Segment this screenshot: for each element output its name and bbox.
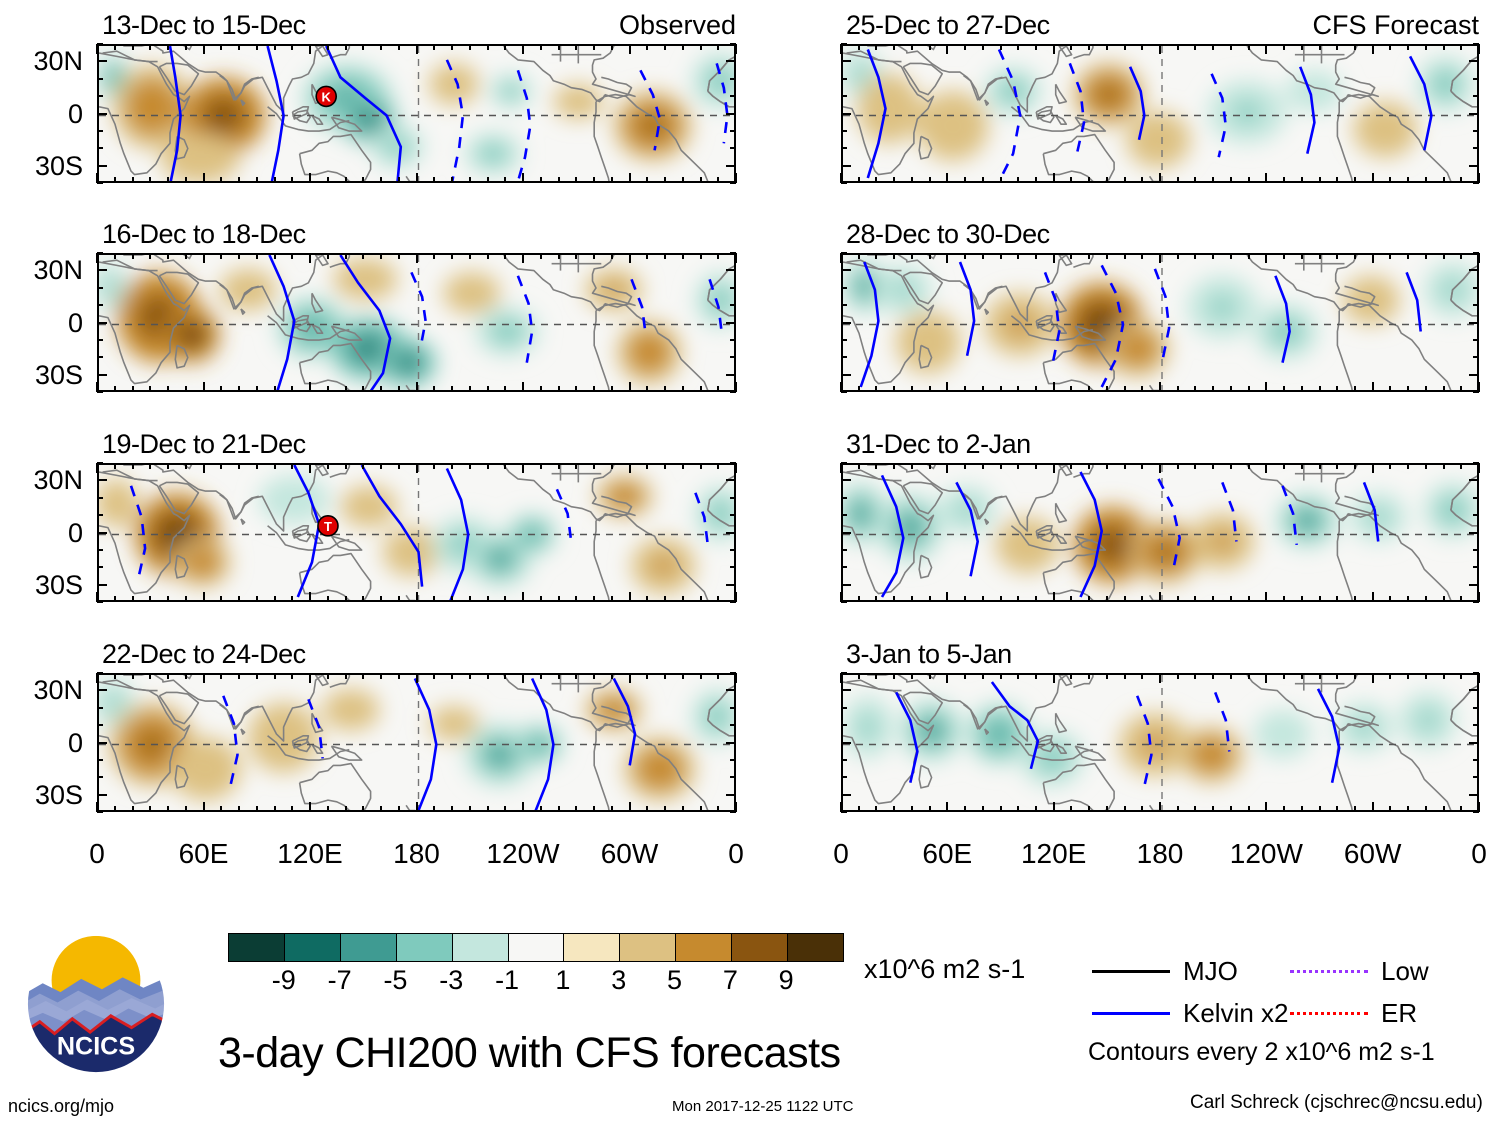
x-tick (982, 177, 984, 183)
x-tick (114, 386, 116, 392)
x-tick (646, 177, 648, 183)
x-tick (911, 596, 913, 602)
colorbar-swatch-0 (229, 934, 285, 961)
y-tick (841, 566, 847, 568)
ncics-logo-text: NCICS (57, 1032, 135, 1060)
x-tick (1035, 596, 1037, 602)
x-tick (946, 592, 948, 602)
y-tick (730, 462, 736, 464)
x-tick (1283, 596, 1285, 602)
x-tick (1124, 806, 1126, 812)
x-tick (1460, 253, 1462, 259)
x-tick (1407, 463, 1409, 469)
y-tick (97, 601, 103, 603)
x-axis-label: 120E (250, 840, 370, 868)
x-tick (929, 177, 931, 183)
legend-entry-mjo: MJO (1092, 958, 1238, 984)
x-tick (1425, 673, 1427, 679)
x-tick (398, 463, 400, 469)
x-tick (629, 253, 631, 263)
y-tick (841, 60, 851, 62)
y-tick (1473, 514, 1479, 516)
x-tick (1265, 592, 1267, 602)
x-tick (1053, 253, 1055, 263)
x-tick (380, 596, 382, 602)
x-tick (1478, 673, 1480, 683)
y-tick (1473, 549, 1479, 551)
x-axis-label: 0 (1419, 840, 1510, 868)
x-tick (1372, 463, 1374, 473)
x-tick (185, 177, 187, 183)
x-tick (1088, 386, 1090, 392)
x-tick (1372, 673, 1374, 683)
x-tick (1389, 673, 1391, 679)
x-tick (1407, 386, 1409, 392)
y-tick (1469, 742, 1479, 744)
x-tick (469, 177, 471, 183)
x-tick (1141, 463, 1143, 469)
x-tick (1070, 177, 1072, 183)
x-tick (504, 44, 506, 50)
legend-entry-low: Low (1290, 958, 1429, 984)
legend-label: Kelvin x2 (1183, 1000, 1289, 1026)
x-axis-label: 0 (37, 840, 157, 868)
y-tick (97, 269, 107, 271)
x-tick (893, 806, 895, 812)
map-panel-p6 (841, 253, 1479, 392)
x-tick (1319, 596, 1321, 602)
x-tick (540, 806, 542, 812)
y-tick (1473, 497, 1479, 499)
x-tick (185, 673, 187, 679)
x-tick (185, 44, 187, 50)
x-tick (380, 44, 382, 50)
x-tick (1035, 177, 1037, 183)
x-tick (1088, 253, 1090, 259)
x-tick (1230, 806, 1232, 812)
x-tick (946, 382, 948, 392)
x-tick (291, 253, 293, 259)
y-tick (97, 78, 103, 80)
map-field-p2 (99, 255, 736, 392)
x-tick (469, 596, 471, 602)
y-tick (726, 165, 736, 167)
y-tick (97, 322, 107, 324)
legend-line-swatch (1092, 970, 1170, 973)
y-tick (97, 374, 107, 376)
x-tick (1017, 463, 1019, 469)
y-tick (730, 356, 736, 358)
x-tick (1053, 382, 1055, 392)
x-tick (1177, 463, 1179, 469)
x-tick (1070, 253, 1072, 259)
y-tick (1473, 95, 1479, 97)
x-tick (1053, 592, 1055, 602)
y-tick (1469, 584, 1479, 586)
x-tick (1106, 253, 1108, 259)
x-tick (946, 802, 948, 812)
x-tick (611, 596, 613, 602)
x-tick (114, 253, 116, 259)
x-tick (149, 463, 151, 469)
x-tick (1000, 673, 1002, 679)
x-tick (274, 253, 276, 259)
x-tick (416, 382, 418, 392)
x-tick (1053, 463, 1055, 473)
x-tick (1212, 806, 1214, 812)
x-tick (1460, 806, 1462, 812)
x-tick (256, 463, 258, 469)
y-axis-label: 30S (0, 153, 83, 180)
x-tick (682, 596, 684, 602)
x-tick (149, 386, 151, 392)
y-tick (726, 322, 736, 324)
x-tick (1407, 253, 1409, 259)
y-tick (97, 811, 103, 813)
x-tick (1088, 596, 1090, 602)
y-tick (730, 724, 736, 726)
x-tick (132, 596, 134, 602)
x-tick (274, 177, 276, 183)
x-tick (1336, 673, 1338, 679)
x-tick (858, 596, 860, 602)
x-tick (540, 177, 542, 183)
x-tick (345, 806, 347, 812)
x-tick (203, 253, 205, 263)
x-tick (1478, 44, 1480, 54)
x-tick (875, 386, 877, 392)
x-tick (1265, 802, 1267, 812)
x-tick (1070, 386, 1072, 392)
x-tick (911, 44, 913, 50)
x-tick (575, 177, 577, 183)
y-tick (841, 462, 847, 464)
x-tick (629, 44, 631, 54)
x-tick (291, 673, 293, 679)
x-tick (575, 386, 577, 392)
x-tick (1088, 177, 1090, 183)
x-tick (274, 463, 276, 469)
colorbar-swatch-4 (453, 934, 509, 961)
y-tick (841, 724, 847, 726)
x-tick (1159, 253, 1161, 263)
x-tick (1248, 673, 1250, 679)
y-tick (730, 287, 736, 289)
x-axis-label: 60E (144, 840, 264, 868)
y-tick (1473, 462, 1479, 464)
x-tick (1460, 463, 1462, 469)
x-tick (1141, 177, 1143, 183)
x-tick (291, 596, 293, 602)
x-tick (1425, 386, 1427, 392)
x-tick (345, 673, 347, 679)
x-tick (1265, 463, 1267, 473)
y-tick (841, 601, 847, 603)
x-tick (682, 253, 684, 259)
colorbar-swatch-6 (564, 934, 620, 961)
y-tick (97, 391, 103, 393)
x-tick (416, 173, 418, 183)
x-tick (167, 386, 169, 392)
x-tick (558, 806, 560, 812)
map-panel-p8 (841, 673, 1479, 812)
y-tick (841, 269, 851, 271)
y-tick (841, 497, 847, 499)
x-tick (522, 44, 524, 54)
x-tick (1088, 463, 1090, 469)
map-panel-p4 (97, 673, 736, 812)
x-tick (1035, 386, 1037, 392)
x-tick (593, 596, 595, 602)
x-tick (858, 177, 860, 183)
y-tick (726, 374, 736, 376)
x-tick (1389, 386, 1391, 392)
x-tick (982, 673, 984, 679)
x-tick (1000, 806, 1002, 812)
y-tick (841, 532, 851, 534)
legend-line-swatch (1290, 1012, 1368, 1015)
x-tick (1017, 673, 1019, 679)
x-tick (893, 253, 895, 259)
y-tick (1469, 269, 1479, 271)
panel-title-p1: 13-Dec to 15-Dec (102, 12, 306, 39)
x-tick (416, 802, 418, 812)
x-tick (1372, 253, 1374, 263)
x-tick (380, 253, 382, 259)
x-tick (167, 673, 169, 679)
x-tick (185, 806, 187, 812)
x-tick (1230, 463, 1232, 469)
x-tick (700, 177, 702, 183)
x-tick (1443, 806, 1445, 812)
x-tick (433, 463, 435, 469)
x-tick (982, 596, 984, 602)
x-tick (1425, 596, 1427, 602)
x-tick (1283, 463, 1285, 469)
x-tick (327, 253, 329, 259)
y-tick (730, 147, 736, 149)
x-tick (1425, 463, 1427, 469)
y-tick (841, 182, 847, 184)
x-tick (185, 253, 187, 259)
x-tick (149, 177, 151, 183)
x-tick (185, 596, 187, 602)
x-tick (1301, 463, 1303, 469)
x-tick (717, 386, 719, 392)
x-tick (274, 673, 276, 679)
x-tick (1319, 253, 1321, 259)
x-tick (416, 673, 418, 683)
x-tick (664, 177, 666, 183)
x-tick (1443, 673, 1445, 679)
x-tick (664, 463, 666, 469)
y-tick (841, 689, 851, 691)
x-tick (1106, 177, 1108, 183)
x-tick (398, 386, 400, 392)
colorbar-swatch-5 (509, 934, 565, 961)
x-tick (238, 386, 240, 392)
x-tick (1106, 806, 1108, 812)
x-tick (1053, 173, 1055, 183)
x-tick (362, 673, 364, 679)
y-tick (730, 95, 736, 97)
colorbar-swatch-8 (676, 934, 732, 961)
y-tick (1473, 356, 1479, 358)
y-tick (730, 776, 736, 778)
x-tick (1177, 596, 1179, 602)
x-tick (717, 253, 719, 259)
x-tick (96, 44, 98, 54)
x-tick (1177, 177, 1179, 183)
x-tick (735, 253, 737, 263)
x-tick (291, 386, 293, 392)
x-tick (149, 806, 151, 812)
x-tick (114, 177, 116, 183)
x-tick (629, 592, 631, 602)
x-tick (964, 463, 966, 469)
x-tick (593, 673, 595, 679)
y-tick (841, 776, 847, 778)
x-tick (256, 673, 258, 679)
x-tick (575, 596, 577, 602)
x-tick (1194, 673, 1196, 679)
x-tick (433, 177, 435, 183)
x-tick (149, 596, 151, 602)
x-tick (416, 592, 418, 602)
x-tick (700, 806, 702, 812)
x-tick (469, 386, 471, 392)
x-tick (646, 673, 648, 679)
x-axis-label: 180 (357, 840, 477, 868)
x-tick (451, 253, 453, 259)
y-axis-label: 0 (0, 730, 83, 757)
x-tick (1283, 673, 1285, 679)
x-tick (700, 386, 702, 392)
x-tick (929, 463, 931, 469)
x-tick (1017, 177, 1019, 183)
x-tick (1212, 463, 1214, 469)
x-tick (291, 806, 293, 812)
x-tick (132, 463, 134, 469)
ncics-logo-icon: NCICS (22, 930, 170, 1078)
x-tick (1106, 386, 1108, 392)
x-tick (1106, 463, 1108, 469)
x-tick (700, 463, 702, 469)
x-tick (309, 253, 311, 263)
y-tick (97, 356, 103, 358)
x-tick (256, 253, 258, 259)
colorbar-swatch-2 (341, 934, 397, 961)
x-tick (1319, 44, 1321, 50)
x-tick (1443, 463, 1445, 469)
x-tick (1265, 173, 1267, 183)
x-tick (362, 806, 364, 812)
colorbar-tick-label: 9 (746, 967, 826, 994)
x-tick (203, 802, 205, 812)
y-tick (730, 707, 736, 709)
y-tick (730, 78, 736, 80)
x-tick (558, 596, 560, 602)
x-tick (946, 253, 948, 263)
x-tick (1407, 177, 1409, 183)
x-tick (167, 253, 169, 259)
x-axis-label: 0 (781, 840, 901, 868)
x-tick (875, 806, 877, 812)
x-tick (203, 44, 205, 54)
x-tick (1194, 386, 1196, 392)
x-tick (1372, 173, 1374, 183)
x-tick (717, 596, 719, 602)
y-tick (97, 549, 103, 551)
y-tick (1469, 479, 1479, 481)
x-tick (1194, 806, 1196, 812)
x-tick (380, 386, 382, 392)
x-tick (1000, 596, 1002, 602)
svg-text:T: T (324, 519, 332, 534)
x-tick (1141, 806, 1143, 812)
x-tick (1000, 44, 1002, 50)
x-tick (1443, 177, 1445, 183)
x-tick (682, 44, 684, 50)
x-tick (274, 596, 276, 602)
x-tick (1194, 253, 1196, 259)
x-tick (291, 463, 293, 469)
x-tick (487, 673, 489, 679)
x-axis-label: 120E (994, 840, 1114, 868)
x-tick (185, 386, 187, 392)
x-tick (840, 463, 842, 473)
panel-title-p2: 16-Dec to 18-Dec (102, 221, 306, 248)
y-tick (730, 43, 736, 45)
x-tick (1354, 596, 1356, 602)
x-tick (1301, 44, 1303, 50)
x-tick (1407, 44, 1409, 50)
x-tick (1000, 253, 1002, 259)
x-tick (1354, 386, 1356, 392)
y-tick (97, 566, 103, 568)
x-tick (1141, 253, 1143, 259)
y-tick (1473, 78, 1479, 80)
x-tick (114, 673, 116, 679)
x-tick (1070, 463, 1072, 469)
x-tick (682, 673, 684, 679)
x-tick (717, 44, 719, 50)
x-tick (1460, 386, 1462, 392)
x-tick (575, 463, 577, 469)
x-tick (1106, 596, 1108, 602)
x-tick (1088, 673, 1090, 679)
x-tick (504, 177, 506, 183)
y-tick (841, 322, 851, 324)
x-tick (1035, 44, 1037, 50)
panel-title-p8: 3-Jan to 5-Jan (846, 641, 1012, 668)
x-tick (487, 386, 489, 392)
y-tick (841, 672, 847, 674)
x-tick (700, 44, 702, 50)
y-tick (1469, 165, 1479, 167)
colorbar (228, 933, 844, 962)
x-tick (1124, 177, 1126, 183)
x-tick (1141, 596, 1143, 602)
x-tick (1478, 253, 1480, 263)
y-tick (841, 287, 847, 289)
x-tick (487, 806, 489, 812)
x-tick (1070, 44, 1072, 50)
x-tick (911, 253, 913, 259)
x-tick (540, 463, 542, 469)
site-url[interactable]: ncics.org/mjo (8, 1097, 114, 1115)
x-tick (238, 177, 240, 183)
